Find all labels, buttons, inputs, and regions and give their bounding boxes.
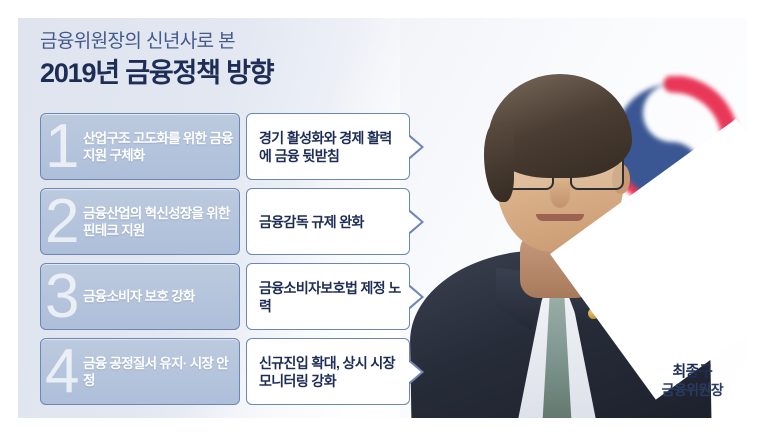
header-subtitle: 금융위원장의 신년사로 본	[40, 30, 273, 54]
person-caption: 최종구 금융위원장	[662, 362, 723, 400]
policy-row: 2 금융산업의 혁신성장을 위한 핀테크 지원 금융감독 규제 완화	[40, 188, 410, 255]
policy-box-1[interactable]: 1 산업구조 고도화를 위한 금융지원 구체화	[40, 113, 240, 180]
portrait-photo: 금융위원회	[400, 18, 747, 418]
policy-label-1: 산업구조 고도화를 위한 금융지원 구체화	[83, 130, 239, 164]
detail-bubble-4[interactable]: 신규진입 확대, 상시 시장 모니터링 강화	[246, 338, 410, 405]
detail-bubble-2[interactable]: 금융감독 규제 완화	[246, 188, 410, 255]
infographic-canvas: 금융위원회	[0, 0, 765, 437]
policy-number-3: 3	[45, 266, 79, 328]
policy-label-4: 금융 공정질서 유지· 시장 안정	[83, 355, 239, 389]
policy-list: 1 산업구조 고도화를 위한 금융지원 구체화 경기 활성화와 경제 활력에 금…	[40, 113, 410, 405]
policy-box-2[interactable]: 2 금융산업의 혁신성장을 위한 핀테크 지원	[40, 188, 240, 255]
page-title: 2019년 금융정책 방향	[40, 57, 273, 89]
policy-box-3[interactable]: 3 금융소비자 보호 강화	[40, 263, 240, 330]
detail-label-1: 경기 활성화와 경제 활력에 금융 뒷받침	[247, 129, 409, 165]
bubble-tail-2	[408, 211, 421, 233]
policy-label-2: 금융산업의 혁신성장을 위한 핀테크 지원	[83, 205, 239, 239]
policy-number-2: 2	[45, 191, 79, 253]
person-name: 최종구	[662, 362, 723, 381]
policy-number-4: 4	[45, 341, 79, 403]
person-title: 금융위원장	[662, 381, 723, 400]
person-figure	[400, 18, 747, 418]
detail-label-4: 신규진입 확대, 상시 시장 모니터링 강화	[247, 354, 409, 390]
mouth	[536, 214, 584, 221]
detail-label-2: 금융감독 규제 완화	[247, 213, 372, 231]
bubble-tail-1	[408, 136, 421, 158]
policy-row: 4 금융 공정질서 유지· 시장 안정 신규진입 확대, 상시 시장 모니터링 …	[40, 338, 410, 405]
hair-sideburn	[484, 122, 514, 202]
policy-row: 1 산업구조 고도화를 위한 금융지원 구체화 경기 활성화와 경제 활력에 금…	[40, 113, 410, 180]
detail-bubble-3[interactable]: 금융소비자보호법 제정 노력	[246, 263, 410, 330]
bubble-tail-4	[408, 361, 421, 383]
bubble-tail-3	[408, 286, 421, 308]
detail-label-3: 금융소비자보호법 제정 노력	[247, 279, 409, 315]
policy-label-3: 금융소비자 보호 강화	[83, 288, 201, 305]
policy-row: 3 금융소비자 보호 강화 금융소비자보호법 제정 노력	[40, 263, 410, 330]
detail-bubble-1[interactable]: 경기 활성화와 경제 활력에 금융 뒷받침	[246, 113, 410, 180]
content-panel: 금융위원회	[18, 18, 747, 418]
policy-number-1: 1	[45, 116, 79, 178]
policy-box-4[interactable]: 4 금융 공정질서 유지· 시장 안정	[40, 338, 240, 405]
page-header: 금융위원장의 신년사로 본 2019년 금융정책 방향	[40, 30, 273, 89]
